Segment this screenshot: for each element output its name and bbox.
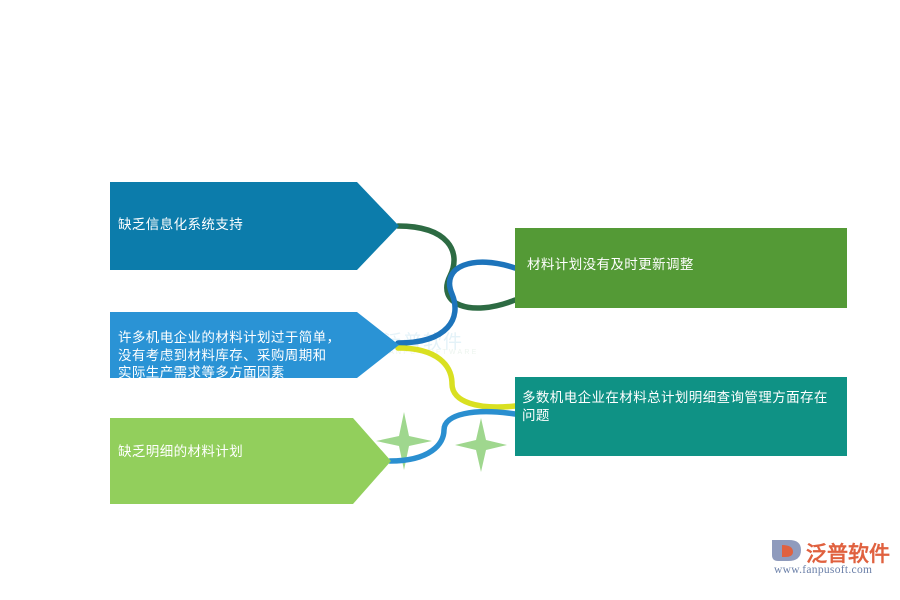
brand-logo-icon — [770, 536, 804, 564]
sparkle-2-icon — [455, 418, 507, 472]
brand-logo-url: www.fanpusoft.com — [774, 564, 872, 576]
brand-logo: 泛普软件 www.fanpusoft.com — [770, 536, 890, 586]
node-arrow1-label: 缺乏信息化系统支持 — [118, 216, 348, 234]
diagram-canvas: 泛普软件 FANPU SOFTWARE 缺乏信息化系统支持 许多机电企业的材料计… — [0, 0, 900, 600]
node-arrow3-label: 缺乏明细的材料计划 — [118, 443, 348, 461]
diagram-shapes-layer — [0, 0, 900, 600]
node-box2-label: 多数机电企业在材料总计划明细查询管理方面存在问题 — [522, 389, 840, 424]
node-box1-label: 材料计划没有及时更新调整 — [527, 256, 827, 274]
node-arrow3-shape[interactable] — [110, 418, 391, 504]
node-arrow2-label: 许多机电企业的材料计划过于简单， 没有考虑到材料库存、采购周期和 实际生产需求等… — [118, 329, 363, 382]
connector-arrow2-to-box1 — [398, 262, 515, 343]
connector-arrow2-to-box2 — [398, 348, 515, 407]
